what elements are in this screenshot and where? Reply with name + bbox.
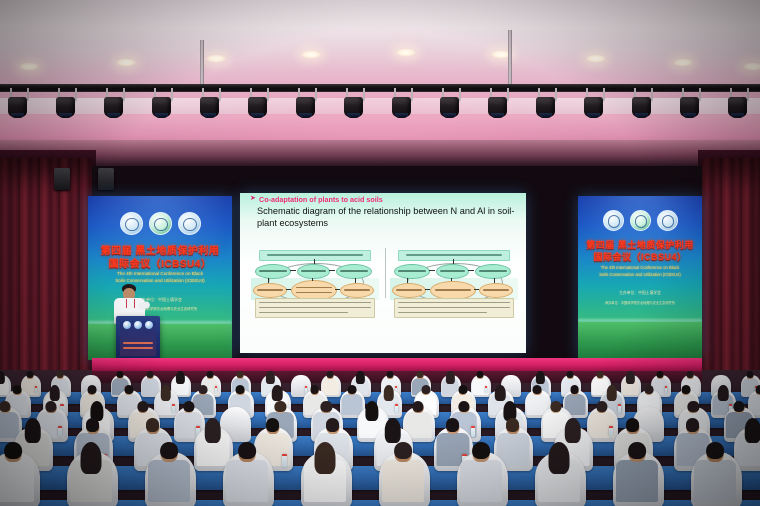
banner-cn-title-line2: 国际会议（ICBSU4） [88, 255, 232, 270]
attendee-hair [472, 442, 490, 459]
led-screen-center: ➤ Co-adaptation of plants to acid soils … [240, 193, 526, 353]
attendee-hair [275, 401, 286, 412]
water-bottle [618, 404, 621, 412]
diagram-panel-left [251, 250, 379, 318]
attendee-hair [321, 401, 332, 412]
attendee-hair [734, 401, 745, 412]
attendee-hair [626, 371, 634, 384]
arrow-nh4-plants [429, 270, 435, 271]
attendee-hair [657, 371, 664, 378]
arrow-plants-vert-right [451, 278, 452, 281]
banner-cn-title-line2: 国际会议（ICBSU4） [578, 250, 702, 263]
attendee-hair [706, 442, 724, 459]
attendee-hair [686, 418, 700, 432]
conference-banner-left: 第四届 黑土地质保护利用 国际会议（ICBSU4） The 4th Intern… [88, 196, 232, 360]
attendee-hair [13, 385, 22, 394]
water-bottle [471, 426, 475, 437]
attendee-hair [417, 371, 424, 378]
podium-title-line [123, 347, 153, 349]
podium-logo-row [122, 321, 154, 330]
attendee-hair [327, 371, 334, 378]
node-label [396, 289, 422, 290]
audience-attendee [538, 444, 580, 504]
attendee-hair [266, 371, 274, 384]
presentation-slide: ➤ Co-adaptation of plants to acid soils … [240, 193, 526, 353]
footnote-line [398, 302, 510, 303]
banner-logo-row-right [578, 210, 702, 231]
node-label [479, 270, 506, 271]
lamp-lens [251, 113, 264, 118]
attendee-hair [24, 418, 41, 443]
attendee-hair [326, 418, 340, 432]
water-bottle [58, 426, 62, 437]
conference-banner-right: 第四届 黑土地质保护利用 国际会议（ICBSU4） The 4th Intern… [578, 196, 702, 358]
attendee-hair [421, 385, 430, 394]
stage-curtain-right [702, 158, 760, 390]
arrow-soil-left [286, 289, 291, 290]
attendee-hair [458, 401, 469, 412]
node-prefer-no3 [336, 264, 372, 279]
attendee-hair [446, 418, 460, 432]
attendee-hair [366, 401, 379, 421]
attendee-hair [495, 385, 506, 401]
diagram-footnote-right [394, 298, 514, 318]
footnote-line [259, 312, 348, 313]
attendee-hair [533, 385, 542, 394]
arrow-soil-left-r [425, 289, 430, 290]
node-label [301, 270, 326, 271]
attendee-hair [384, 418, 401, 443]
lamp-lens [11, 113, 24, 118]
audience-attendee [226, 444, 268, 504]
conference-hall-photo: 第四届 黑土地质保护利用 国际会议（ICBSU4） The 4th Intern… [0, 0, 760, 506]
attendee-hair [747, 371, 754, 378]
node-label [257, 289, 283, 290]
arrow-plants-no3 [329, 270, 335, 271]
arrow-more-al-vert [494, 278, 495, 283]
ceiling-downlight [115, 58, 137, 67]
attendee-hair [161, 385, 172, 401]
diagram-header-text-left [267, 254, 363, 256]
attendee-hair [27, 371, 34, 378]
banner-en-title-line1: The 4th International Conference on Blac… [88, 271, 232, 276]
lamp-lens [443, 113, 456, 118]
node-label [435, 289, 470, 290]
lamp-lens [587, 113, 600, 118]
node-label [440, 270, 465, 271]
lamp-lens [299, 113, 312, 118]
attendee-hair [204, 418, 221, 443]
footnote-line [259, 302, 371, 303]
attendee-hair [124, 385, 133, 394]
lamp-lens [347, 113, 360, 118]
attendee-hair [347, 385, 356, 394]
footnote-line [259, 307, 371, 308]
audience-attendee [736, 420, 760, 467]
ceiling-pipe-right [508, 30, 512, 88]
node-al-tolerant [475, 264, 511, 279]
stage-curtain-left [0, 158, 92, 390]
attendee-torso [694, 460, 736, 502]
speaker-box-right [98, 168, 114, 190]
attendee-hair [644, 385, 653, 394]
attendee-torso [382, 460, 424, 502]
wall-top-trim [0, 140, 760, 166]
node-prefer-nh4 [394, 264, 430, 279]
node-label [344, 289, 370, 290]
attendee-hair [81, 442, 102, 474]
attendee-hair [597, 371, 604, 378]
ceiling-downlight [18, 62, 40, 71]
attendee-hair [199, 385, 208, 394]
attendee-hair [147, 371, 154, 378]
banner-logo-row-left [88, 212, 232, 235]
lamp-lens [395, 113, 408, 118]
conference-logo-blue-icon [178, 212, 201, 235]
podium-logo-icon [123, 321, 131, 329]
led-screen-left: 第四届 黑土地质保护利用 国际会议（ICBSU4） The 4th Intern… [88, 196, 232, 360]
attendee-hair [549, 442, 570, 474]
attendee-hair [4, 442, 22, 459]
arrow-lower-al-vert [268, 278, 269, 283]
footnote-line [398, 307, 510, 308]
attendee-hair [596, 401, 607, 412]
conference-logo-blue-icon [657, 210, 678, 231]
node-more-no3 [340, 283, 374, 298]
podium-title-line [123, 342, 153, 344]
banner-en-title-line1: The 4th International Conference on Blac… [578, 265, 702, 270]
attendee-hair [146, 418, 160, 432]
attendee-hair [687, 371, 694, 378]
audience-attendee [382, 444, 424, 504]
node-plants-left [297, 264, 330, 279]
attendee-hair [688, 401, 699, 412]
node-label [340, 270, 367, 271]
audience-attendee [616, 444, 658, 504]
ceiling-downlight [395, 48, 417, 57]
attendee-hair [564, 418, 581, 443]
ceiling-glow [0, 0, 760, 150]
attendee-hair [744, 418, 760, 443]
lamp-lens [203, 113, 216, 118]
water-bottle [485, 386, 487, 393]
conference-logo-icon [603, 210, 624, 231]
attendee-hair [207, 371, 214, 378]
attendee-hair [57, 371, 64, 378]
speaker-box-left [54, 168, 70, 190]
water-bottle [609, 426, 613, 437]
attendee-hair [45, 401, 56, 412]
attendee-hair [413, 401, 424, 412]
audience-attendee [304, 444, 346, 504]
water-bottle [665, 386, 667, 393]
attendee-hair [266, 418, 280, 432]
attendee-hair [237, 371, 244, 378]
lamp-lens [731, 113, 744, 118]
attendee-hair [356, 371, 364, 384]
attendee-hair [394, 442, 412, 459]
attendee-hair [49, 385, 60, 401]
led-screen-right: 第四届 黑土地质保护利用 国际会议（ICBSU4） The 4th Intern… [578, 196, 702, 358]
slide-kicker-text: Co-adaptation of plants to acid soils [259, 195, 383, 204]
attendee-hair [87, 385, 96, 394]
audience-attendee [694, 444, 736, 504]
attendee-hair [628, 442, 646, 459]
conference-logo-green-icon [630, 210, 651, 231]
presenter-lanyard [126, 299, 135, 308]
diagram-panel-right [390, 250, 518, 318]
node-label [483, 289, 509, 290]
attendee-hair [176, 371, 184, 384]
presenter-arm [137, 301, 150, 310]
ceiling-downlight [205, 54, 227, 63]
node-label [398, 270, 425, 271]
slide-title: Schematic diagram of the relationship be… [257, 205, 518, 230]
attendee-hair [570, 385, 579, 394]
lamp-lens [683, 113, 696, 118]
footnote-line [398, 312, 487, 313]
attendee-hair [506, 418, 520, 432]
arrow-more-nh4-vert [407, 278, 408, 283]
audience-attendee [460, 444, 502, 504]
attendee-torso [460, 460, 502, 502]
attendee-hair [384, 385, 395, 401]
arrow-plants-altol [468, 270, 474, 271]
diagram-footnote-left [255, 298, 375, 318]
diagram-header-text-right [406, 254, 502, 256]
banner-en-title-line2: Soils Conservation and Utilization (ICBS… [88, 278, 232, 283]
stage-apron [92, 358, 702, 371]
attendee-hair [459, 385, 468, 394]
audience-attendee [70, 444, 112, 504]
node-al-sensitive [255, 264, 291, 279]
attendee-hair [310, 385, 319, 394]
attendee-hair [0, 371, 4, 384]
lamp-lens [107, 113, 120, 118]
attendee-hair [756, 385, 760, 394]
lamp-lens [155, 113, 168, 118]
attendee-hair [446, 371, 454, 384]
audience-attendee [622, 372, 639, 396]
attendee-hair [567, 371, 574, 378]
arrow-soil-right-r [474, 289, 479, 290]
node-lower-al3 [253, 283, 287, 298]
attendee-hair [0, 401, 11, 412]
attendee-hair [86, 418, 100, 432]
banner-en-title-line2: Soils Conservation and Utilization (ICBS… [578, 272, 702, 277]
attendee-hair [536, 371, 544, 384]
attendee-hair [238, 442, 256, 459]
attendee-hair [387, 371, 394, 378]
attendee-torso [616, 460, 658, 502]
conference-logo-icon [120, 212, 143, 235]
water-bottle [172, 404, 175, 412]
attendee-hair [550, 401, 561, 412]
node-plants-right [436, 264, 469, 279]
audience-attendee [196, 420, 229, 467]
water-bottle [35, 386, 37, 393]
podium-logo-icon [145, 321, 153, 329]
ceiling-downlight [742, 62, 760, 71]
audience-attendee [148, 444, 190, 504]
slide-panel-divider [385, 248, 386, 298]
ceiling-downlight [672, 58, 694, 67]
attendee-hair [183, 401, 194, 412]
water-bottle [395, 404, 398, 412]
banner-grass-right [578, 322, 702, 358]
banner-cn-sub-line2: 承办单位：中国科学院东北地理与农业生态研究所 [578, 300, 702, 305]
attendee-torso [148, 460, 190, 502]
lamp-lens [491, 113, 504, 118]
ceiling-downlight [585, 54, 607, 63]
attendee-hair [315, 442, 336, 474]
podium [116, 316, 160, 360]
node-more-nh4 [392, 283, 426, 298]
attendee-hair [160, 442, 178, 459]
lamp-lens [59, 113, 72, 118]
node-more-al3 [479, 283, 513, 298]
attendee-torso [226, 460, 268, 502]
lamp-lens [539, 113, 552, 118]
attendee-hair [117, 371, 124, 378]
node-label [296, 292, 331, 293]
attendee-hair [236, 385, 245, 394]
banner-cn-sub-line1: 主办单位：中国土壤学会 [578, 291, 702, 296]
water-bottle [282, 454, 287, 467]
water-bottle [215, 386, 217, 393]
arrow-soil-right [335, 289, 340, 290]
arrow-plants-vert-left [312, 278, 313, 281]
attendee-torso [0, 460, 34, 502]
attendee-hair [718, 385, 729, 401]
ceiling-pipe-left [200, 40, 204, 88]
attendee-hair [626, 418, 640, 432]
attendee-hair [606, 385, 617, 401]
arrow-al-plants [290, 270, 296, 271]
lamp-lens [635, 113, 648, 118]
attendee-hair [272, 385, 283, 401]
ceiling-downlight [300, 50, 322, 59]
bullet-arrow-icon: ➤ [250, 195, 256, 202]
attendee-hair [681, 385, 690, 394]
node-label [296, 287, 331, 288]
arrow-more-no3-vert [355, 278, 356, 283]
podium-logo-icon [134, 321, 142, 329]
node-label [259, 270, 286, 271]
attendee-hair [137, 401, 148, 412]
attendee-hair [477, 371, 484, 378]
conference-logo-green-icon [149, 212, 172, 235]
audience-attendee [0, 444, 34, 504]
